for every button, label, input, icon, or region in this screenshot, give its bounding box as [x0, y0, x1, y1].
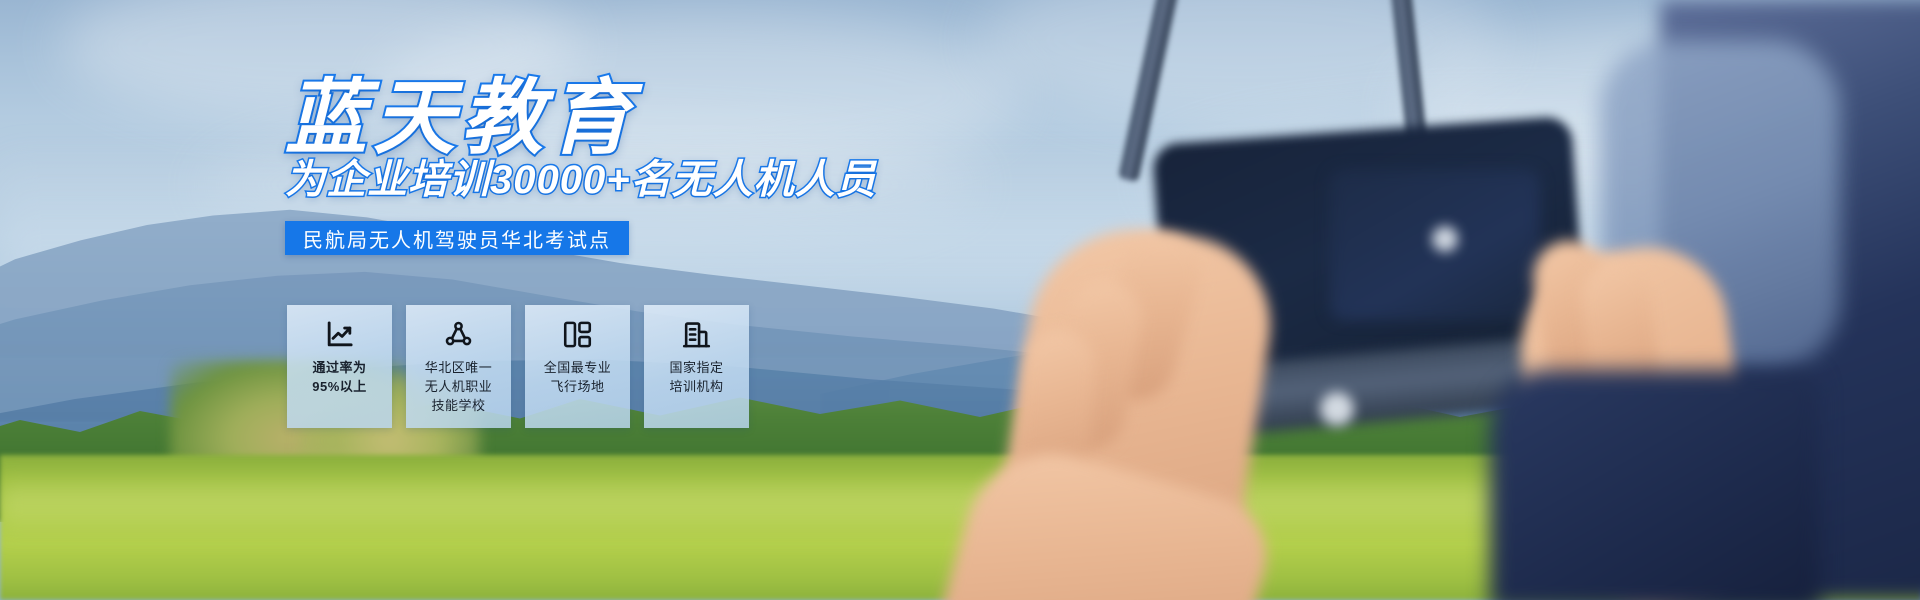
- feature-card-label: 国家指定 培训机构: [669, 359, 723, 397]
- building-icon: [680, 317, 714, 351]
- growth-chart-icon: [323, 317, 357, 351]
- hero-banner: 蓝天教育 为企业培训30000+名无人机人员 民航局无人机驾驶员华北考试点 通过…: [0, 0, 1920, 600]
- feature-card-label: 华北区唯一 无人机职业 技能学校: [425, 359, 493, 416]
- feature-card-institution[interactable]: 国家指定 培训机构: [644, 305, 749, 428]
- feature-card-pass-rate[interactable]: 通过率为 95%以上: [287, 305, 392, 428]
- feature-card-label: 全国最专业 飞行场地: [544, 359, 612, 397]
- status-badge: 民航局无人机驾驶员华北考试点: [285, 221, 629, 255]
- network-node-icon: [442, 317, 476, 351]
- page-title: 蓝天教育: [285, 78, 637, 160]
- feature-card-label: 通过率为 95%以上: [312, 359, 367, 397]
- feature-card-school[interactable]: 华北区唯一 无人机职业 技能学校: [406, 305, 511, 428]
- page-subtitle: 为企业培训30000+名无人机人员: [285, 160, 877, 200]
- feature-card-list: 通过率为 95%以上 华北区唯一 无人机职业 技能学校: [287, 305, 749, 428]
- copy-block: 蓝天教育 为企业培训30000+名无人机人员 民航局无人机驾驶员华北考试点 通过…: [0, 0, 1920, 600]
- layout-blocks-icon: [561, 317, 595, 351]
- feature-card-airfield[interactable]: 全国最专业 飞行场地: [525, 305, 630, 428]
